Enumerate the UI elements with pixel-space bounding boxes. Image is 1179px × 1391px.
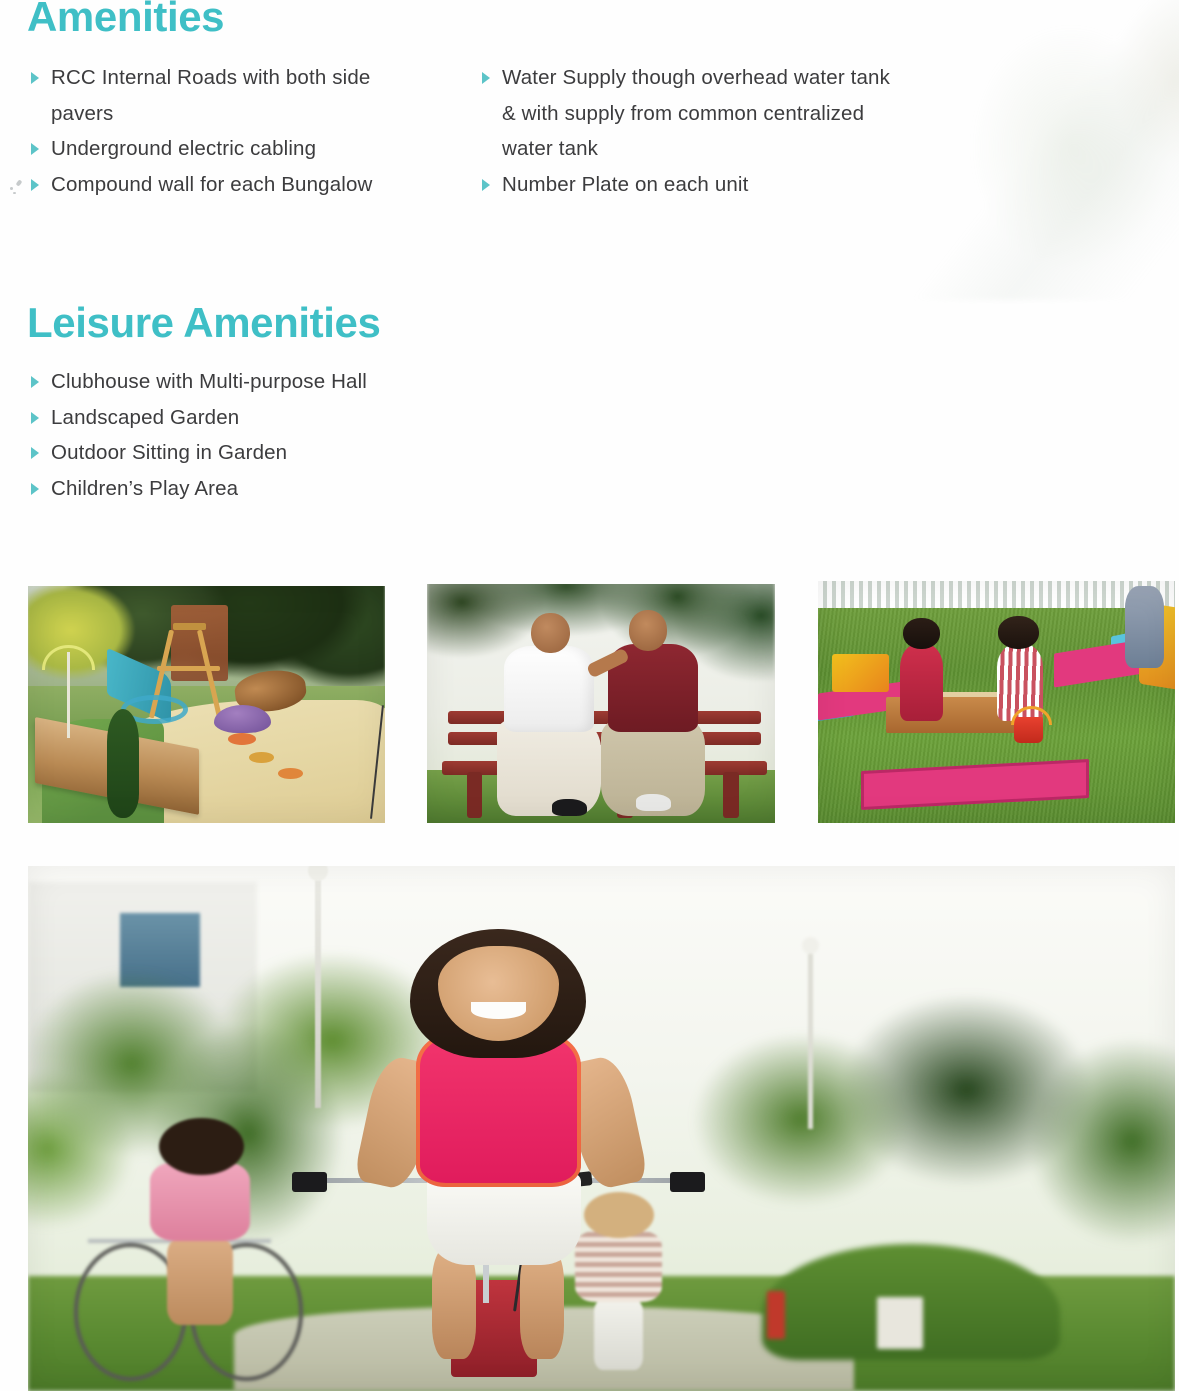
triangle-bullet-icon (31, 376, 39, 388)
cycling-photo (28, 866, 1175, 1391)
list-item: Children’s Play Area (27, 471, 547, 507)
playground-photo (28, 586, 385, 823)
playground-scene (28, 586, 385, 823)
sand-bucket-shape (1014, 717, 1043, 744)
list-item: Underground electric cabling (27, 131, 427, 167)
background-girl-shape (131, 1118, 269, 1339)
brochure-page: Amenities RCC Internal Roads with both s… (0, 0, 1179, 1391)
foam-block-shape (832, 654, 889, 693)
list-item-label: RCC Internal Roads with both side pavers (51, 60, 427, 131)
triangle-bullet-icon (31, 447, 39, 459)
topiary-bush-shape (107, 709, 139, 818)
amenities-list-right: Water Supply though overhead water tank … (478, 60, 898, 202)
list-item-label: Landscaped Garden (51, 400, 547, 436)
bench-scene (427, 584, 775, 823)
leisure-amenities-heading: Leisure Amenities (27, 302, 380, 344)
man-head-shape (629, 610, 667, 651)
list-item-label: Compound wall for each Bungalow (51, 167, 427, 203)
street-lamp-shape (315, 877, 321, 1108)
child-red-shirt-shape (900, 644, 943, 721)
list-item-label: Number Plate on each unit (502, 167, 898, 203)
triangle-bullet-icon (31, 412, 39, 424)
list-item-label: Underground electric cabling (51, 131, 427, 167)
list-item: RCC Internal Roads with both side pavers (27, 60, 427, 131)
triangle-bullet-icon (31, 72, 39, 84)
sandpit-photo (818, 581, 1175, 823)
foreground-girl-shape (361, 929, 636, 1360)
list-item-label: Outdoor Sitting in Garden (51, 435, 547, 471)
list-item: Landscaped Garden (27, 400, 547, 436)
triangle-bullet-icon (31, 143, 39, 155)
bench-photo (427, 584, 775, 823)
list-item: Number Plate on each unit (478, 167, 898, 203)
sandpit-scene (818, 581, 1175, 823)
list-item: Compound wall for each Bungalow (27, 167, 427, 203)
walking-child-shape (1125, 586, 1164, 668)
purple-mound-shape (214, 705, 271, 733)
cycling-scene (28, 866, 1175, 1391)
list-item: Water Supply though overhead water tank … (478, 60, 898, 167)
triangle-bullet-icon (482, 72, 490, 84)
amenities-heading: Amenities (27, 0, 224, 38)
list-item: Outdoor Sitting in Garden (27, 435, 547, 471)
man-white-shirt-shape (504, 646, 594, 732)
street-lamp-shape (808, 950, 813, 1129)
amenities-list-left: RCC Internal Roads with both side pavers… (27, 60, 427, 202)
man-head-shape (531, 613, 569, 654)
list-item-label: Clubhouse with Multi-purpose Hall (51, 364, 547, 400)
list-item-label: Water Supply though overhead water tank … (502, 60, 898, 167)
list-item-label: Children’s Play Area (51, 471, 547, 507)
triangle-bullet-icon (31, 483, 39, 495)
leisure-amenities-list: Clubhouse with Multi-purpose Hall Landsc… (27, 364, 547, 506)
triangle-bullet-icon (31, 179, 39, 191)
list-item: Clubhouse with Multi-purpose Hall (27, 364, 547, 400)
triangle-bullet-icon (482, 179, 490, 191)
